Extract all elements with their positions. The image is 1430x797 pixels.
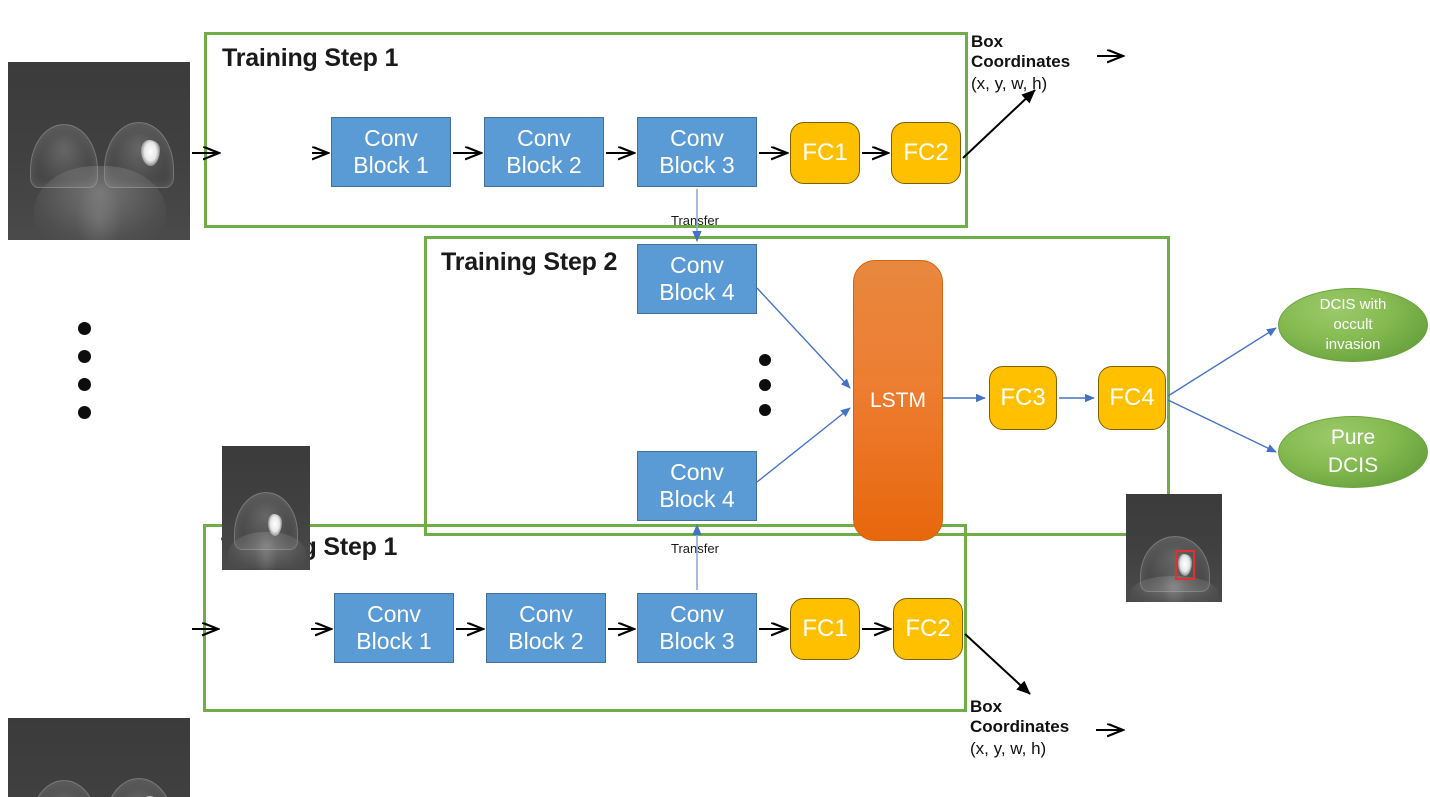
conv-block-line1: Conv [670, 459, 724, 486]
fc1-block-top[interactable]: FC1 [790, 122, 860, 184]
oval-line1: DCIS with [1320, 295, 1387, 315]
oval-line1: Pure [1331, 424, 1375, 452]
conv-block-line2: Block 2 [506, 152, 581, 179]
conv-block-line1: Conv [367, 601, 421, 628]
group-box-training-step-2 [424, 236, 1170, 536]
conv-block-3-top[interactable]: Conv Block 3 [637, 117, 757, 187]
conv-block-2-top[interactable]: Conv Block 2 [484, 117, 604, 187]
conv-block-1-top[interactable]: Conv Block 1 [331, 117, 451, 187]
output-oval-pure-dcis[interactable]: Pure DCIS [1278, 416, 1428, 488]
conv-block-line2: Block 4 [659, 279, 734, 306]
oval-line2: DCIS [1328, 452, 1378, 480]
conv-block-line1: Conv [670, 601, 724, 628]
fc2-block-top[interactable]: FC2 [891, 122, 961, 184]
conv-block-line2: Block 3 [659, 628, 734, 655]
conv-block-1-bottom[interactable]: Conv Block 1 [334, 593, 454, 663]
transfer-label-bottom: Transfer [671, 541, 719, 556]
ellipsis-dot [78, 322, 91, 335]
conv-block-line2: Block 1 [356, 628, 431, 655]
conv-block-line1: Conv [670, 125, 724, 152]
box-coordinates-line2-bottom: Coordinates [970, 717, 1069, 736]
conv-block-2-bottom[interactable]: Conv Block 2 [486, 593, 606, 663]
conv-block-4-top[interactable]: Conv Block 4 [637, 244, 757, 314]
ellipsis-dot [78, 406, 91, 419]
conv-block-line2: Block 4 [659, 486, 734, 513]
conv-block-line1: Conv [670, 252, 724, 279]
output-mri-top [1126, 494, 1222, 602]
transfer-label-top: Transfer [671, 213, 719, 228]
fc4-block[interactable]: FC4 [1098, 366, 1166, 430]
conv-block-line2: Block 1 [353, 152, 428, 179]
box-coordinates-line2-top: Coordinates [971, 52, 1070, 71]
box-coordinates-line3-top: (x, y, w, h) [971, 74, 1047, 94]
ellipsis-dot [78, 350, 91, 363]
fc1-block-bottom[interactable]: FC1 [790, 598, 860, 660]
conv-block-4-bottom[interactable]: Conv Block 4 [637, 451, 757, 521]
conv-block-3-bottom[interactable]: Conv Block 3 [637, 593, 757, 663]
conv-block-line1: Conv [519, 601, 573, 628]
box-coordinates-line1-bottom: Box [970, 697, 1002, 716]
box-coordinates-line1-top: Box [971, 32, 1003, 51]
group-title-step1-top: Training Step 1 [222, 44, 398, 73]
fc3-block[interactable]: FC3 [989, 366, 1057, 430]
detected-lesion-box [1175, 550, 1195, 580]
conv-block-line2: Block 2 [508, 628, 583, 655]
ellipsis-dot [759, 404, 771, 416]
input-mri-bottom [8, 718, 190, 797]
conv-block-line1: Conv [364, 125, 418, 152]
cropped-mri-top [222, 446, 310, 570]
conv-block-line1: Conv [517, 125, 571, 152]
box-coordinates-line3-bottom: (x, y, w, h) [970, 739, 1046, 759]
oval-line3: invasion [1325, 335, 1380, 355]
output-oval-dcis-occult-invasion[interactable]: DCIS with occult invasion [1278, 288, 1428, 362]
ellipsis-dot [759, 354, 771, 366]
conv-block-line2: Block 3 [659, 152, 734, 179]
fc2-block-bottom[interactable]: FC2 [893, 598, 963, 660]
diagram-canvas: Training Step 1 Training Step 2 Training… [0, 0, 1430, 797]
group-title-step2: Training Step 2 [441, 248, 617, 277]
oval-line2: occult [1333, 315, 1372, 335]
input-mri-top [8, 62, 190, 240]
lstm-block[interactable]: LSTM [853, 260, 943, 541]
ellipsis-dot [759, 379, 771, 391]
ellipsis-dot [78, 378, 91, 391]
